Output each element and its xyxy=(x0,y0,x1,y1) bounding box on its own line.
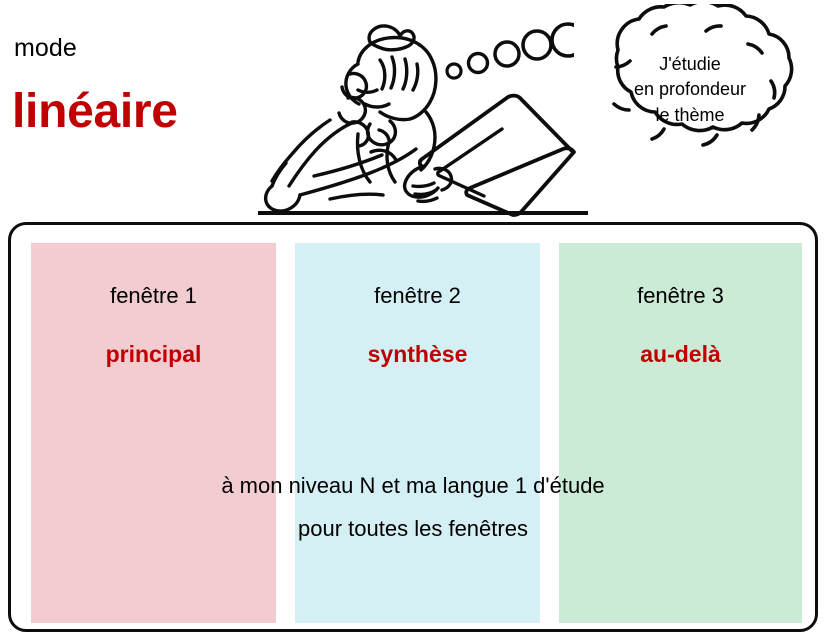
window-2-kind: synthèse xyxy=(295,343,540,366)
window-3-kind: au-delà xyxy=(559,343,802,366)
thought-bubble-text: J'étudie en profondeur le thème xyxy=(556,4,824,172)
window-column-3[interactable]: fenêtre 3 au-delà xyxy=(559,243,802,623)
thought-bubble-line-3: le thème xyxy=(655,103,724,129)
window-1-title: fenêtre 1 xyxy=(31,285,276,307)
mode-label: mode xyxy=(14,36,77,61)
window-1-kind: principal xyxy=(31,343,276,366)
window-column-1[interactable]: fenêtre 1 principal xyxy=(31,243,276,623)
windows-container: fenêtre 1 principal fenêtre 2 synthèse f… xyxy=(8,222,818,632)
window-3-title: fenêtre 3 xyxy=(559,285,802,307)
window-2-title: fenêtre 2 xyxy=(295,285,540,307)
mode-value: linéaire xyxy=(12,88,178,136)
thought-bubble-line-2: en profondeur xyxy=(634,77,746,103)
thought-trail-bubbles xyxy=(444,18,574,82)
thought-bubble-line-1: J'étudie xyxy=(659,52,720,78)
thought-bubble: J'étudie en profondeur le thème xyxy=(556,4,824,172)
window-column-2[interactable]: fenêtre 2 synthèse xyxy=(295,243,540,623)
